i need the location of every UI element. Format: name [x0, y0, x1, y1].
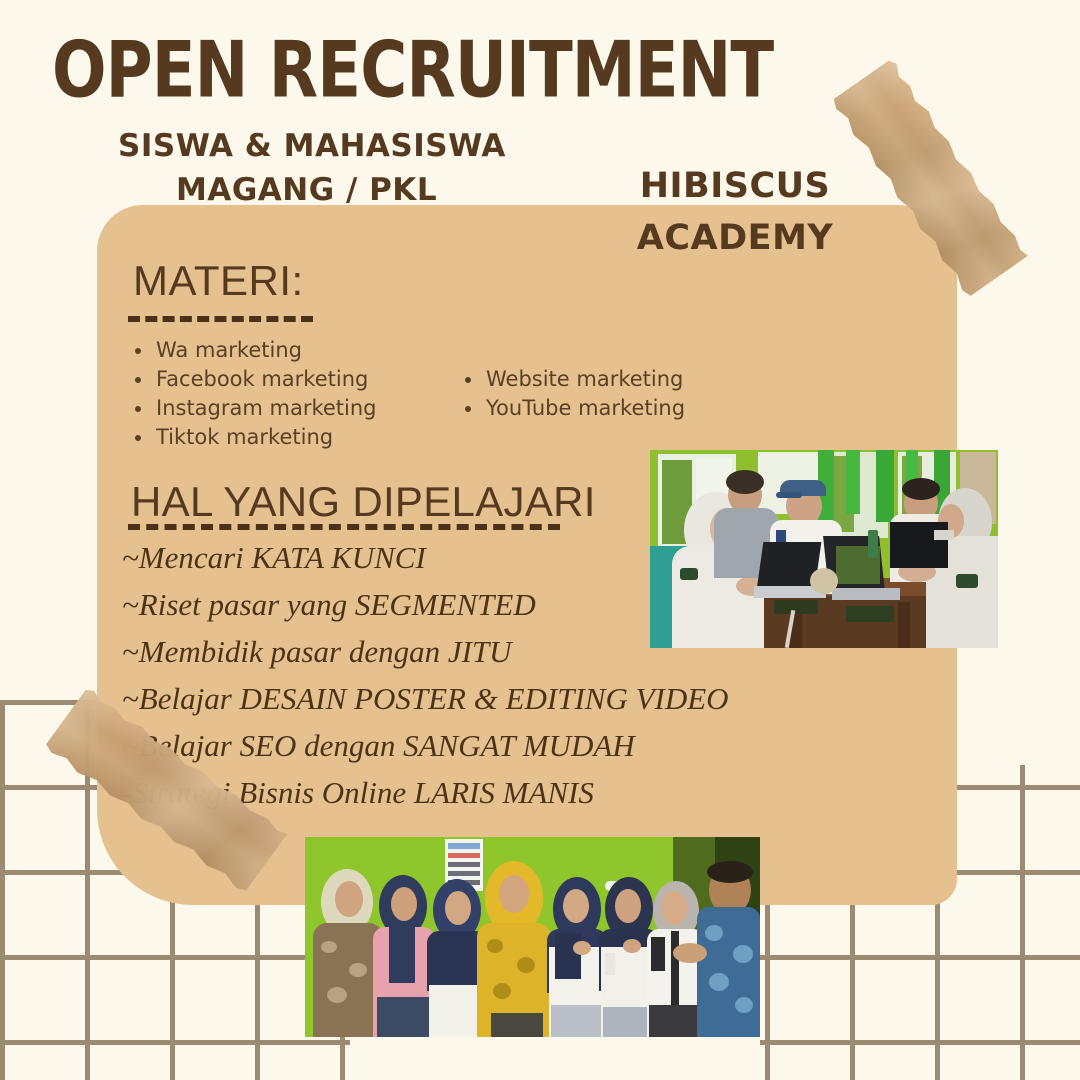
list-item: Wa marketing	[154, 336, 377, 365]
page-title: OPEN RECRUITMENT	[52, 26, 773, 116]
list-item: Instagram marketing	[154, 394, 377, 423]
materi-divider	[128, 316, 313, 322]
brand-name: HIBISCUS ACADEMY	[600, 160, 870, 264]
list-item: Tiktok marketing	[154, 423, 377, 452]
materi-column-right: Website marketing YouTube marketing	[458, 365, 685, 423]
list-item: ~Belajar SEO dengan SANGAT MUDAH	[122, 722, 842, 769]
subtitle-program: MAGANG / PKL	[176, 172, 437, 208]
brand-line-1: HIBISCUS	[600, 160, 870, 212]
learning-heading: HAL YANG DIPELAJARI	[131, 478, 596, 526]
materi-heading: MATERI:	[133, 257, 304, 305]
poster-canvas: OPEN RECRUITMENT SISWA & MAHASISWA MAGAN…	[0, 0, 1080, 1080]
list-item: ~Belajar DESAIN POSTER & EDITING VIDEO	[122, 675, 842, 722]
learning-divider	[128, 524, 560, 530]
list-item: YouTube marketing	[484, 394, 685, 423]
subtitle-audience: SISWA & MAHASISWA	[118, 128, 506, 164]
group-portrait-photo	[305, 837, 760, 1037]
materi-column-left: Wa marketing Facebook marketing Instagra…	[128, 336, 377, 452]
list-item: Facebook marketing	[154, 365, 377, 394]
brand-line-2: ACADEMY	[600, 212, 870, 264]
list-item: Website marketing	[484, 365, 685, 394]
classroom-laptops-photo	[650, 450, 998, 648]
